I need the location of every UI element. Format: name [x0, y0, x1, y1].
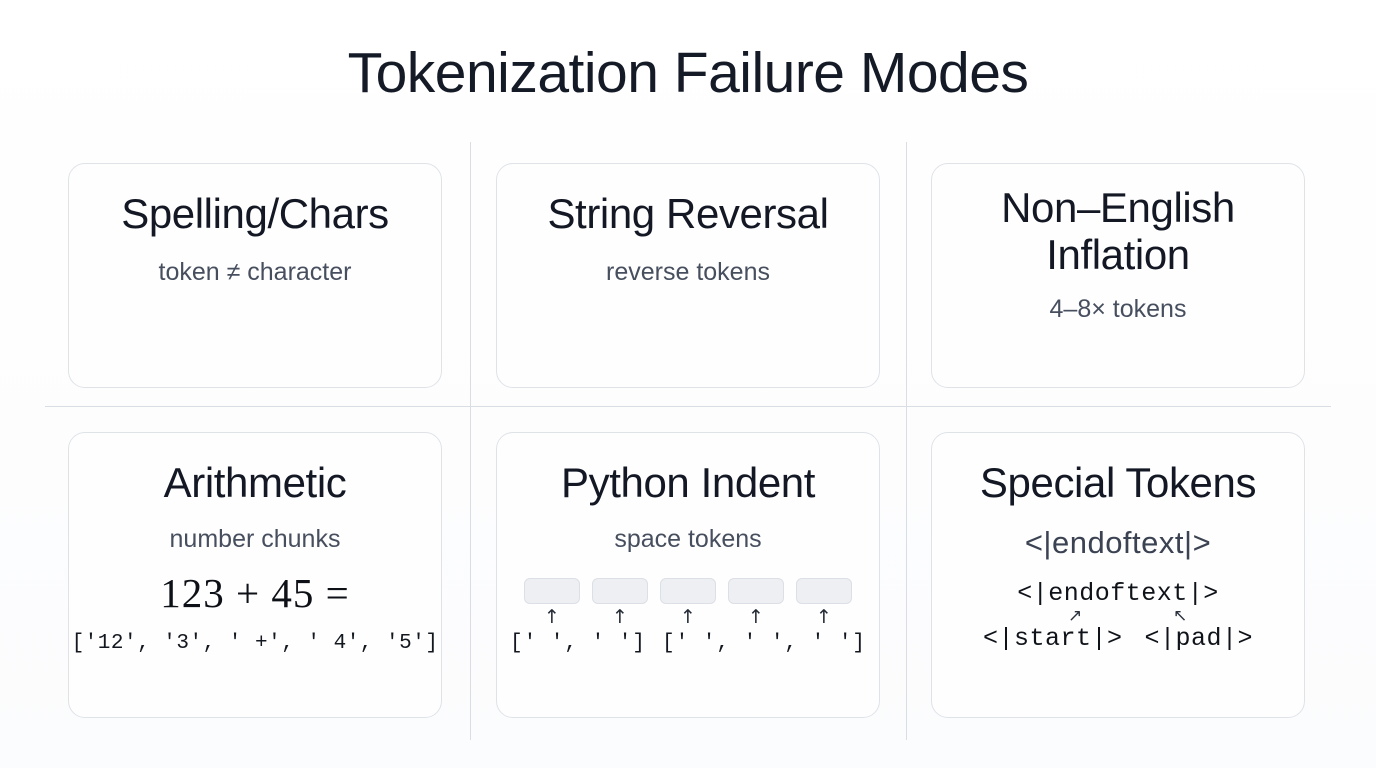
card-arithmetic[interactable]: Arithmetic number chunks 123 + 45 = ['12… — [68, 432, 442, 718]
special-token-start: <|start|> — [983, 626, 1123, 651]
special-token-diagram: <|endoftext|> ↗ ↖ <|start|> <|pad|> — [968, 581, 1268, 651]
card-string-reversal[interactable]: String Reversal reverse tokens — [496, 163, 880, 388]
space-box-arrow-row: ↑ ↑ ↑ ↑ ↑ — [524, 608, 852, 627]
arrow-up-icon: ↑ — [728, 608, 784, 627]
arithmetic-expression: 123 + 45 = — [160, 573, 350, 614]
card-non-english-inflation[interactable]: Non–English Inflation 4–8× tokens — [931, 163, 1305, 388]
space-token-group: [' ', ' ', ' '] — [662, 633, 866, 654]
space-box — [728, 578, 784, 604]
card-title: Non–English Inflation — [953, 184, 1283, 278]
card-title: Spelling/Chars — [121, 190, 389, 237]
card-python-indent[interactable]: Python Indent space tokens ↑ ↑ ↑ ↑ ↑ [' … — [496, 432, 880, 718]
card-subtitle: token ≠ character — [159, 257, 352, 287]
arrow-up-left-icon: ↖ — [1173, 608, 1187, 625]
arrow-up-icon: ↑ — [796, 608, 852, 627]
slide-canvas: Tokenization Failure Modes Spelling/Char… — [0, 0, 1376, 768]
space-token-lists: [' ', ' '] [' ', ' ', ' '] — [510, 633, 866, 654]
card-special-tokens[interactable]: Special Tokens <|endoftext|> <|endoftext… — [931, 432, 1305, 718]
space-box — [524, 578, 580, 604]
arrow-up-icon: ↑ — [660, 608, 716, 627]
card-spelling-chars[interactable]: Spelling/Chars token ≠ character — [68, 163, 442, 388]
card-title: Python Indent — [561, 459, 815, 506]
special-token-row: <|start|> <|pad|> — [983, 626, 1253, 651]
card-title: Arithmetic — [164, 459, 347, 506]
space-box — [796, 578, 852, 604]
space-token-group: [' ', ' '] — [510, 633, 646, 654]
arrow-up-right-icon: ↗ — [1068, 608, 1082, 625]
special-token-arrows: ↗ ↖ — [968, 606, 1268, 626]
card-subtitle: reverse tokens — [606, 257, 770, 287]
failure-mode-grid: Spelling/Chars token ≠ character String … — [0, 0, 1376, 768]
arrow-up-icon: ↑ — [524, 608, 580, 627]
special-token-pad: <|pad|> — [1145, 626, 1254, 651]
card-subtitle: 4–8× tokens — [1050, 294, 1187, 324]
card-title: Special Tokens — [980, 459, 1256, 506]
arithmetic-token-list: ['12', '3', ' +', ' 4', '5'] — [72, 633, 439, 654]
space-box — [592, 578, 648, 604]
card-subtitle: space tokens — [614, 524, 761, 554]
space-box — [660, 578, 716, 604]
card-subtitle: <|endoftext|> — [1025, 524, 1211, 561]
special-token-endoftext: <|endoftext|> — [1017, 581, 1219, 606]
space-token-boxes — [524, 578, 852, 604]
arrow-up-icon: ↑ — [592, 608, 648, 627]
card-subtitle: number chunks — [170, 524, 341, 554]
card-title: String Reversal — [547, 190, 828, 237]
